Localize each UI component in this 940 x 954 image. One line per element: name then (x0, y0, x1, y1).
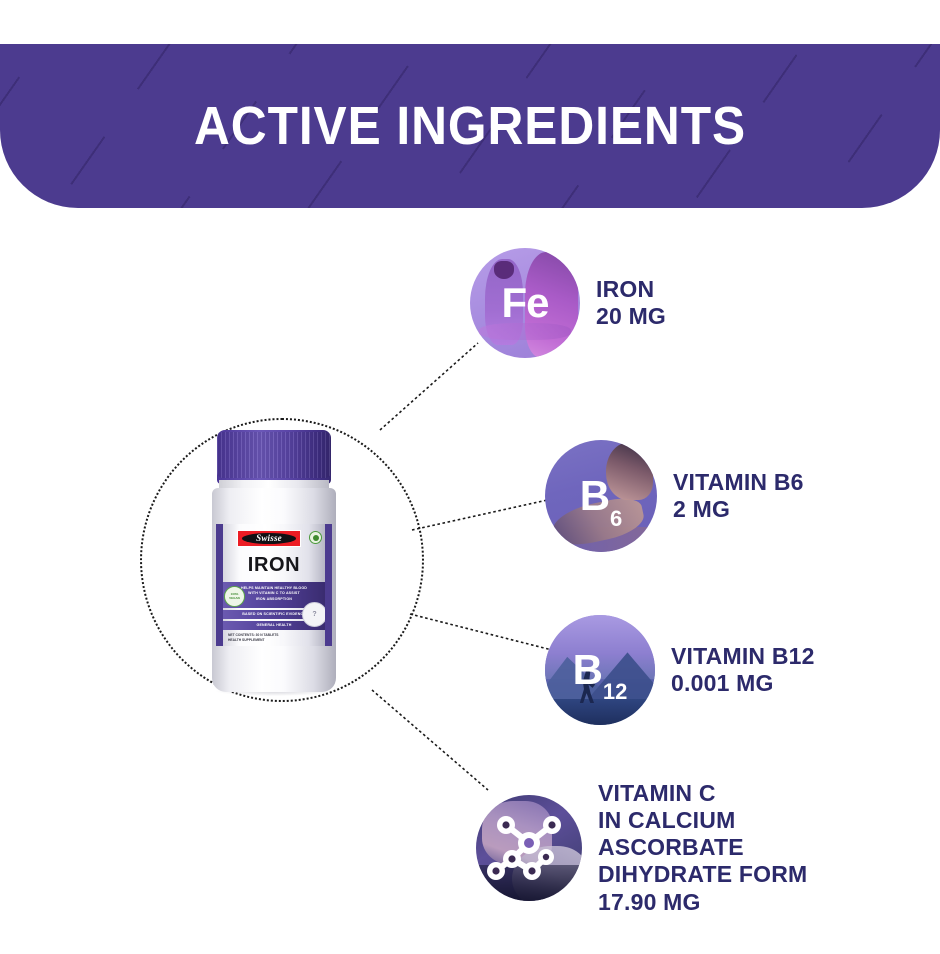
ingredient-item-vitamin-b12: B 12 VITAMIN B12 0.001 MG (545, 615, 815, 725)
vitamin-b12-label: VITAMIN B12 0.001 MG (671, 643, 815, 697)
vitamin-c-label: VITAMIN C IN CALCIUM ASCORBATE DIHYDRATE… (598, 780, 807, 916)
brand-name: Swisse (256, 534, 282, 543)
bottle-body: Swisse IRON HELPS MAINTAIN HEALTHY BLOOD… (212, 488, 336, 692)
page-title: ACTIVE INGREDIENTS (38, 44, 903, 208)
vitamin-b6-symbol: B 6 (545, 440, 657, 552)
active-ingredients-infographic: ACTIVE INGREDIENTS Swisse (0, 0, 940, 954)
product-bottle: Swisse IRON HELPS MAINTAIN HEALTHY BLOOD… (210, 430, 338, 692)
connector-line-b6 (412, 499, 552, 530)
bottle-label: Swisse IRON HELPS MAINTAIN HEALTHY BLOOD… (216, 524, 332, 646)
connector-line-iron (380, 343, 478, 430)
vegan-badge-icon: 100% VEGAN (224, 586, 245, 607)
evidence-seal-icon: ? (302, 602, 327, 627)
bottle-cap (217, 430, 331, 484)
vitamin-b6-symbol-sub: 6 (610, 508, 622, 530)
vitamin-c-molecule-icon (476, 795, 582, 901)
vitamin-b6-label: VITAMIN B6 2 MG (673, 469, 804, 523)
vitamin-b6-symbol-main: B (580, 475, 609, 517)
product-highlight-zone: Swisse IRON HELPS MAINTAIN HEALTHY BLOOD… (140, 418, 424, 702)
vegan-mark-icon (309, 531, 322, 544)
vitamin-b12-runner-icon: B 12 (545, 615, 655, 725)
swisse-brand-logo: Swisse (237, 530, 301, 547)
vitamin-b6-yoga-icon: B 6 (545, 440, 657, 552)
ingredient-item-iron: Fe IRON 20 MG (470, 248, 666, 358)
header-banner: ACTIVE INGREDIENTS (0, 44, 940, 208)
connector-line-b12 (410, 614, 552, 650)
vitamin-b12-symbol: B 12 (545, 615, 655, 725)
vitamin-b12-symbol-sub: 12 (603, 681, 627, 703)
iron-kettlebell-icon: Fe (470, 248, 580, 358)
vegan-badge-line-2: VEGAN (229, 597, 240, 600)
ingredient-item-vitamin-b6: B 6 VITAMIN B6 2 MG (545, 440, 804, 552)
ingredient-item-vitamin-c: VITAMIN C IN CALCIUM ASCORBATE DIHYDRATE… (476, 780, 807, 916)
label-fine-print: NET CONTENTS: 30 N TABLETS HEALTH SUPPLE… (228, 633, 320, 643)
supplement-line: HEALTH SUPPLEMENT (228, 638, 320, 643)
vitamin-b12-symbol-main: B (573, 649, 602, 691)
connector-line-vitamin-c (372, 690, 488, 790)
iron-symbol-main: Fe (501, 282, 548, 324)
iron-label: IRON 20 MG (596, 276, 666, 330)
logo-ellipse: Swisse (242, 533, 296, 544)
product-name: IRON (223, 554, 325, 577)
molecule-diagram-icon (476, 795, 582, 901)
iron-symbol: Fe (470, 248, 580, 358)
